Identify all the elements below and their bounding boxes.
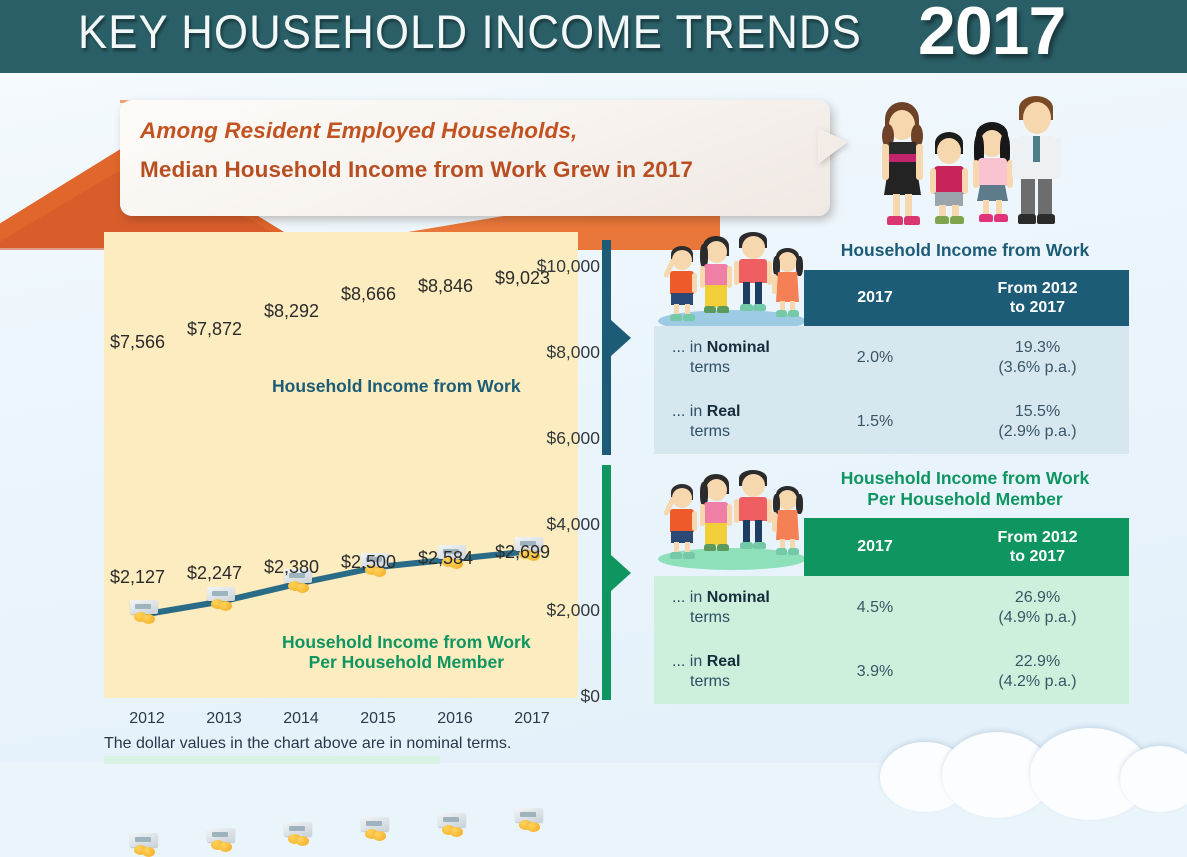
row-label-nominal: ... in Nominal terms (654, 588, 804, 628)
cell-change-real: 15.5% (2.9% p.a.) (946, 402, 1129, 442)
x-tick-label: 2016 (420, 710, 490, 728)
column-header-from-2012-to-2017: From 2012 to 2017 (946, 518, 1129, 576)
money-stack-icon (361, 817, 391, 841)
infographic-page: KEY HOUSEHOLD INCOME TRENDS 2017 Among R… (0, 0, 1187, 763)
cell-2017-nominal: 2.0% (804, 348, 946, 368)
panel-title-member-line2: Per Household Member (867, 489, 1062, 509)
income-trend-chart: $10,000 $8,000 $6,000 $4,000 $2,000 $0 $… (0, 232, 600, 763)
x-tick-label: 2012 (112, 710, 182, 728)
callout-line-1: Among Resident Employed Households, (140, 118, 577, 144)
column-header-2017: 2017 (804, 518, 946, 576)
column-header-from-2012-to-2017: From 2012 to 2017 (946, 270, 1129, 326)
money-stack-icon (515, 808, 545, 832)
data-label: $8,292 (264, 301, 319, 322)
data-label: $2,247 (187, 563, 242, 584)
cell-2017-real: 1.5% (804, 412, 946, 432)
data-label: $2,584 (418, 548, 473, 569)
header-year: 2017 (918, 0, 1065, 70)
family-group-icon (652, 474, 812, 570)
x-tick-label: 2013 (189, 710, 259, 728)
family-group-icon (652, 236, 812, 332)
right-arrow-icon (602, 465, 611, 700)
panel-title-member-line1: Household Income from Work (841, 468, 1090, 488)
series-label-member: Household Income from Work Per Household… (282, 632, 531, 672)
data-label: $8,666 (341, 284, 396, 305)
panel-income-per-household-member: Household Income from Work Per Household… (640, 462, 1140, 702)
family-of-four-icon (872, 96, 1057, 226)
page-title: KEY HOUSEHOLD INCOME TRENDS (78, 4, 862, 59)
cell-2017-real: 3.9% (804, 662, 946, 682)
table-row: ... in Nominal terms 4.5% 26.9% (4.9% p.… (654, 576, 1129, 640)
x-tick-label: 2017 (497, 710, 567, 728)
money-stack-icon (207, 828, 237, 852)
cloud-icon (880, 728, 1187, 768)
data-label: $9,023 (495, 268, 550, 289)
money-stack-icon (130, 833, 160, 857)
callout-bubble: Among Resident Employed Households, Medi… (120, 100, 830, 216)
money-stack-icon (438, 813, 468, 837)
row-label-nominal: ... in Nominal terms (654, 338, 804, 378)
x-tick-label: 2015 (343, 710, 413, 728)
panel-title-work: Household Income from Work (800, 240, 1130, 261)
right-arrow-icon (602, 240, 611, 455)
table-body-member: ... in Nominal terms 4.5% 26.9% (4.9% p.… (654, 576, 1129, 704)
money-stack-icon (284, 822, 314, 846)
table-header-member: 2017 From 2012 to 2017 (804, 518, 1129, 576)
series-label-member-line1: Household Income from Work (282, 632, 531, 652)
callout-line-2: Median Household Income from Work Grew i… (140, 157, 693, 183)
x-tick-label: 2014 (266, 710, 336, 728)
series-label-member-line2: Per Household Member (309, 652, 504, 672)
header-bar: KEY HOUSEHOLD INCOME TRENDS 2017 (0, 0, 1187, 73)
data-label: $2,500 (341, 552, 396, 573)
data-label: $2,127 (110, 567, 165, 588)
money-stack-icon (207, 587, 237, 611)
panel-household-income-from-work: Household Income from Work 2017 From 201… (640, 236, 1140, 458)
y-tick-label: $4,000 (508, 514, 600, 535)
table-row: ... in Real terms 1.5% 15.5% (2.9% p.a.) (654, 390, 1129, 454)
row-label-real: ... in Real terms (654, 402, 804, 442)
column-header-2017: 2017 (804, 270, 946, 326)
y-tick-label: $8,000 (508, 342, 600, 363)
cell-change-nominal: 19.3% (3.6% p.a.) (946, 338, 1129, 378)
table-row: ... in Nominal terms 2.0% 19.3% (3.6% p.… (654, 326, 1129, 390)
series-label-work: Household Income from Work (272, 376, 521, 396)
data-label: $2,699 (495, 542, 550, 563)
callout-tail (818, 128, 848, 164)
table-row: ... in Real terms 3.9% 22.9% (4.2% p.a.) (654, 640, 1129, 704)
data-label: $7,872 (187, 319, 242, 340)
cell-change-real: 22.9% (4.2% p.a.) (946, 652, 1129, 692)
table-header-work: 2017 From 2012 to 2017 (804, 270, 1129, 326)
money-stack-icon (130, 600, 160, 624)
y-tick-label: $6,000 (508, 428, 600, 449)
cell-change-nominal: 26.9% (4.9% p.a.) (946, 588, 1129, 628)
panel-title-member: Household Income from Work Per Household… (800, 468, 1130, 510)
table-body-work: ... in Nominal terms 2.0% 19.3% (3.6% p.… (654, 326, 1129, 454)
data-label: $2,380 (264, 557, 319, 578)
cell-2017-nominal: 4.5% (804, 598, 946, 618)
data-label: $8,846 (418, 276, 473, 297)
y-tick-label: $0 (508, 686, 600, 707)
row-label-real: ... in Real terms (654, 652, 804, 692)
chart-footnote: The dollar values in the chart above are… (104, 735, 584, 753)
y-tick-label: $2,000 (508, 600, 600, 621)
data-label: $7,566 (110, 332, 165, 353)
